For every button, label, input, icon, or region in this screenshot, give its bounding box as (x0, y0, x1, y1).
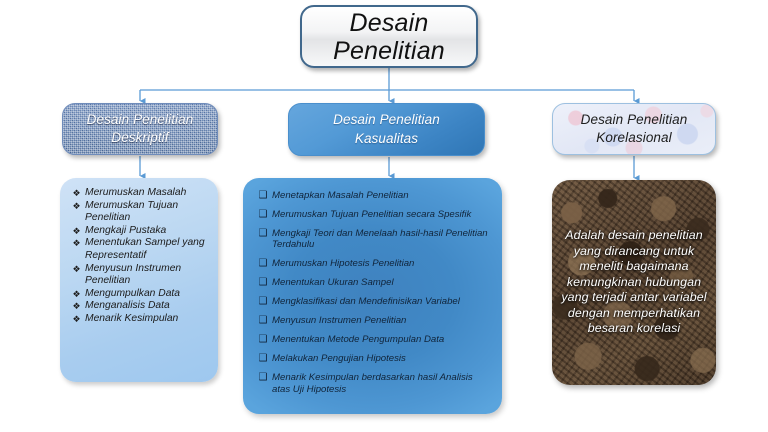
list-item: ❖Mengkaji Pustaka (70, 225, 210, 238)
list-item: ❑Menetapkan Masalah Penelitian (255, 190, 492, 201)
list-item: ❖Menganalisis Data (70, 300, 210, 313)
list-item-label: Mengkaji Pustaka (83, 225, 210, 238)
bullet-icon: ❑ (255, 296, 271, 307)
list-item-label: Mengkaji Teori dan Menelaah hasil-hasil … (271, 228, 492, 251)
branch-header-kasualitas-text: Desain Penelitian Kasualitas (333, 111, 440, 147)
list-item: ❑Menentukan Metode Pengumpulan Data (255, 334, 492, 345)
branch-header-kasualitas: Desain Penelitian Kasualitas (288, 103, 485, 156)
list-item-label: Menentukan Metode Pengumpulan Data (271, 334, 492, 345)
branch-panel-kasualitas: ❑Menetapkan Masalah Penelitian❑Merumuska… (243, 178, 502, 414)
bullet-icon: ❑ (255, 315, 271, 326)
list-item: ❖Merumuskan Masalah (70, 187, 210, 200)
list-item-label: Merumuskan Masalah (83, 187, 210, 200)
branch-header-deskriptif: Desain Penelitian Deskriptif (62, 103, 218, 155)
list-item-label: Menentukan Sampel yang Representatif (83, 237, 210, 262)
list-item-label: Menentukan Ukuran Sampel (271, 277, 492, 288)
header-mid-line1: Desain Penelitian (333, 112, 440, 127)
bullet-icon: ❑ (255, 190, 271, 201)
header-left-line2: Deskriptif (111, 130, 168, 145)
diagram-canvas: Desain Penelitian Desain Penelitian Desk… (0, 0, 768, 432)
list-item: ❖Menentukan Sampel yang Representatif (70, 237, 210, 262)
list-item-label: Menganalisis Data (83, 300, 210, 313)
root-title-line1: Desain (349, 9, 428, 37)
list-item: ❑Melakukan Pengujian Hipotesis (255, 353, 492, 364)
list-item-label: Merumuskan Hipotesis Penelitian (271, 258, 492, 269)
bullet-icon: ❖ (70, 225, 83, 238)
list-item-label: Mengklasifikasi dan Mendefinisikan Varia… (271, 296, 492, 307)
branch-panel-deskriptif: ❖Merumuskan Masalah❖Merumuskan Tujuan Pe… (60, 178, 218, 382)
list-item-label: Menarik Kesimpulan berdasarkan hasil Ana… (271, 372, 492, 395)
bullet-icon: ❖ (70, 288, 83, 301)
list-item: ❑Mengklasifikasi dan Mendefinisikan Vari… (255, 296, 492, 307)
list-item: ❖Merumuskan Tujuan Penelitian (70, 200, 210, 225)
kasualitas-step-list: ❑Menetapkan Masalah Penelitian❑Merumuska… (255, 190, 492, 395)
bullet-icon: ❖ (70, 187, 83, 200)
bullet-icon: ❖ (70, 300, 83, 313)
list-item-label: Menyusun Instrumen Penelitian (271, 315, 492, 326)
list-item-label: Menarik Kesimpulan (83, 313, 210, 326)
list-item: ❑Merumuskan Tujuan Penelitian secara Spe… (255, 209, 492, 220)
branch-panel-korelasional: Adalah desain penelitian yang dirancang … (552, 180, 716, 385)
list-item: ❖Menarik Kesimpulan (70, 313, 210, 326)
branch-header-korelasional: Desain Penelitian Korelasional (552, 103, 716, 155)
bullet-icon: ❑ (255, 258, 271, 269)
list-item: ❑Menarik Kesimpulan berdasarkan hasil An… (255, 372, 492, 395)
list-item-label: Merumuskan Tujuan Penelitian secara Spes… (271, 209, 492, 220)
bullet-icon: ❑ (255, 372, 271, 383)
bullet-icon: ❖ (70, 313, 83, 326)
list-item: ❑Merumuskan Hipotesis Penelitian (255, 258, 492, 269)
bullet-icon: ❑ (255, 277, 271, 288)
header-mid-line2: Kasualitas (355, 131, 418, 146)
list-item: ❑Menentukan Ukuran Sampel (255, 277, 492, 288)
list-item-label: Mengumpulkan Data (83, 288, 210, 301)
bullet-icon: ❖ (70, 237, 83, 250)
header-right-line1: Desain Penelitian (581, 112, 688, 127)
list-item: ❖Menyusun Instrumen Penelitian (70, 263, 210, 288)
korelasional-description: Adalah desain penelitian yang dirancang … (558, 228, 710, 337)
bullet-icon: ❖ (70, 263, 83, 276)
list-item: ❑Mengkaji Teori dan Menelaah hasil-hasil… (255, 228, 492, 251)
list-item-label: Merumuskan Tujuan Penelitian (83, 200, 210, 225)
branch-header-deskriptif-text: Desain Penelitian Deskriptif (87, 111, 194, 147)
root-title-box: Desain Penelitian (300, 5, 478, 68)
bullet-icon: ❑ (255, 334, 271, 345)
bullet-icon: ❑ (255, 228, 271, 239)
list-item: ❑Menyusun Instrumen Penelitian (255, 315, 492, 326)
bullet-icon: ❑ (255, 353, 271, 364)
branch-header-korelasional-text: Desain Penelitian Korelasional (581, 111, 688, 147)
bullet-icon: ❖ (70, 200, 83, 213)
bullet-icon: ❑ (255, 209, 271, 220)
header-left-line1: Desain Penelitian (87, 112, 194, 127)
list-item-label: Menetapkan Masalah Penelitian (271, 190, 492, 201)
root-title-line2: Penelitian (333, 37, 445, 65)
root-title-text: Desain Penelitian (333, 9, 445, 65)
list-item-label: Menyusun Instrumen Penelitian (83, 263, 210, 288)
list-item: ❖Mengumpulkan Data (70, 288, 210, 301)
deskriptif-step-list: ❖Merumuskan Masalah❖Merumuskan Tujuan Pe… (70, 187, 210, 326)
list-item-label: Melakukan Pengujian Hipotesis (271, 353, 492, 364)
header-right-line2: Korelasional (596, 130, 672, 145)
